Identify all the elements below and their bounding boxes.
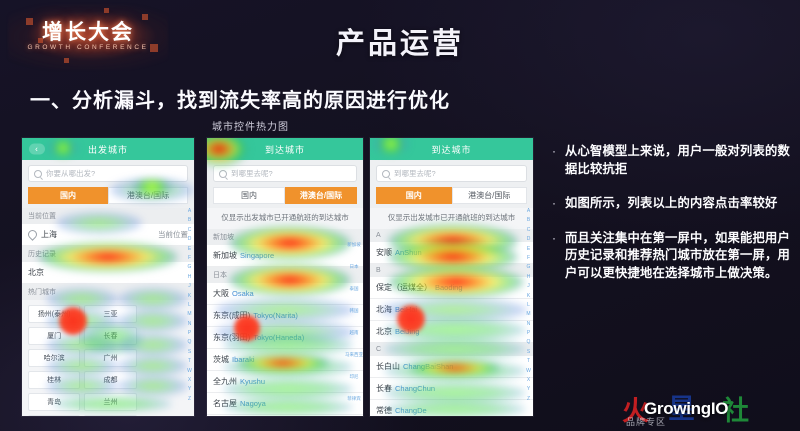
list-item: · 从心智模型上来说，用户一般对列表的数据比较抗拒	[552, 143, 794, 178]
index-letter[interactable]: M	[526, 311, 530, 317]
index-letter[interactable]: M	[187, 311, 191, 317]
city-name: 茨城	[213, 354, 229, 365]
city-chip[interactable]: 兰州	[84, 393, 136, 411]
list-item[interactable]: 长白山 ChangBaiShan	[370, 356, 533, 378]
city-chip[interactable]: 深圳	[28, 415, 80, 416]
index-letter[interactable]: 韩国	[350, 308, 359, 314]
city-tag: 当前位置	[158, 229, 188, 240]
city-name: 大阪	[213, 288, 229, 299]
city-name-en: Ibaraki	[232, 355, 255, 364]
index-letter[interactable]: G	[527, 264, 531, 270]
phone3-header-title: 到达城市	[431, 143, 471, 156]
phone3-notice: 仅显示出发城市已开通航班的到达城市	[370, 208, 533, 229]
city-name: 北海	[376, 304, 392, 315]
city-name: 安顺	[376, 247, 392, 258]
index-letter[interactable]: Z	[188, 396, 191, 402]
city-name: 北京	[28, 267, 44, 278]
index-letter[interactable]: A	[188, 208, 191, 214]
phone2-notice: 仅显示出发城市已开通航班的到达城市	[207, 208, 363, 229]
city-chip[interactable]: 成都	[84, 371, 136, 389]
index-letter[interactable]: Y	[527, 386, 530, 392]
city-chip[interactable]: 长春	[84, 327, 136, 345]
phone3-search-input[interactable]: 到哪里去呢?	[376, 165, 527, 182]
phone3-section-a: A	[370, 229, 533, 242]
index-letter[interactable]: X	[188, 377, 191, 383]
phone3-alphabet-index[interactable]: A B C D E F G H J K L M N P Q S T W X Y …	[525, 208, 532, 402]
index-letter[interactable]: 菲律宾	[347, 396, 361, 402]
index-letter[interactable]: H	[527, 274, 531, 280]
list-item[interactable]: 北京	[22, 262, 194, 284]
index-letter[interactable]: W	[187, 368, 192, 374]
index-letter[interactable]: 日本	[350, 264, 359, 270]
index-letter[interactable]: J	[188, 283, 191, 289]
phone3-search-placeholder: 到哪里去呢?	[394, 168, 436, 179]
phone3-tab-bar: 国内 港澳台/国际	[376, 187, 527, 204]
phone-screenshot-arrival-domestic: 到达城市 到哪里去呢? 国内 港澳台/国际 仅显示出发城市已开通航班的到达城市 …	[370, 138, 533, 416]
city-chip[interactable]: 哈尔滨	[28, 349, 80, 367]
index-letter[interactable]: S	[188, 349, 191, 355]
bullet-text: 如图所示，列表以上的内容点击率较好	[565, 195, 777, 213]
list-item: · 如图所示，列表以上的内容点击率较好	[552, 195, 794, 213]
phone2-search-input[interactable]: 到哪里去呢?	[213, 165, 357, 182]
index-letter[interactable]: B	[527, 217, 530, 223]
index-letter[interactable]: T	[527, 358, 530, 364]
index-letter[interactable]: F	[527, 255, 530, 261]
search-icon	[34, 170, 42, 178]
city-name-en: BeiJing	[395, 327, 420, 336]
city-name-en: ChangDe	[395, 406, 427, 415]
index-letter[interactable]: 新加坡	[347, 242, 361, 248]
list-item[interactable]: 名古屋 Nagoya	[207, 393, 363, 415]
location-pin-icon	[26, 228, 39, 241]
search-icon	[219, 170, 227, 178]
list-item[interactable]: 新加坡 Singapore	[207, 245, 363, 267]
phone2-tab-international[interactable]: 港澳台/国际	[285, 187, 357, 204]
index-letter[interactable]: Z	[527, 396, 530, 402]
city-name: 保定（运煤全）	[376, 282, 432, 293]
list-item: · 而且关注集中在第一屏中，如果能把用户历史记录和推荐热门城市放在第一屏，用户可…	[552, 230, 794, 283]
logo-pixel	[104, 8, 109, 13]
index-letter[interactable]: J	[527, 283, 530, 289]
index-letter[interactable]: D	[527, 236, 531, 242]
index-letter[interactable]: C	[188, 227, 192, 233]
phone1-tab-international[interactable]: 港澳台/国际	[108, 187, 188, 204]
phone3-section-b: B	[370, 264, 533, 277]
city-name: 新加坡	[213, 250, 237, 261]
city-name: 长春	[376, 383, 392, 394]
index-letter[interactable]: K	[188, 293, 191, 299]
list-item[interactable]: 长春 ChangChun	[370, 378, 533, 400]
phone2-search-placeholder: 到哪里去呢?	[231, 168, 273, 179]
city-name-en: Baoding	[435, 283, 463, 292]
city-chip[interactable]: 桂林	[28, 371, 80, 389]
phone1-search-input[interactable]: 你要从哪出发?	[28, 165, 188, 182]
city-name-en: Singapore	[240, 251, 274, 260]
search-icon	[382, 170, 390, 178]
bullet-marker: ·	[552, 195, 565, 213]
city-name: 长白山	[376, 361, 400, 372]
index-letter[interactable]: F	[188, 255, 191, 261]
index-letter[interactable]: S	[527, 349, 530, 355]
list-item[interactable]: 东京(羽田) Tokyo(Haneda)	[207, 327, 363, 349]
index-letter[interactable]: Q	[188, 339, 192, 345]
phone1-header-title: 出发城市	[88, 143, 128, 156]
phone1-search-placeholder: 你要从哪出发?	[46, 168, 95, 179]
index-letter[interactable]: A	[527, 208, 530, 214]
city-name-en: ChangBaiShan	[403, 362, 453, 371]
phone1-tab-bar: 国内 港澳台/国际	[28, 187, 188, 204]
index-letter[interactable]: G	[188, 264, 192, 270]
phone3-tab-international[interactable]: 港澳台/国际	[452, 187, 528, 204]
product-logo-text: GrowingIO	[644, 399, 728, 419]
list-item[interactable]: 茨城 Ibaraki	[207, 349, 363, 371]
city-name-en: Tokyo(Narita)	[253, 311, 298, 320]
bullet-text: 而且关注集中在第一屏中，如果能把用户历史记录和推荐热门城市放在第一屏，用户可以更…	[565, 230, 794, 283]
phone-screenshot-arrival-international: 到达城市 到哪里去呢? 国内 港澳台/国际 仅显示出发城市已开通航班的到达城市 …	[207, 138, 363, 416]
index-letter[interactable]: 印尼	[350, 374, 359, 380]
city-chip[interactable]: 扬州(泰州)	[28, 305, 80, 323]
index-letter[interactable]: L	[188, 302, 191, 308]
city-chip[interactable]: 青岛	[28, 393, 80, 411]
list-item[interactable]: 保定（运煤全） Baoding	[370, 277, 533, 299]
city-name: 全九州	[213, 376, 237, 387]
index-letter[interactable]: P	[527, 330, 530, 336]
index-letter[interactable]: W	[526, 368, 531, 374]
index-letter[interactable]: P	[188, 330, 191, 336]
city-name: 名古屋	[213, 398, 237, 409]
index-letter[interactable]: Q	[527, 339, 531, 345]
back-icon[interactable]: ‹	[29, 144, 45, 155]
list-item[interactable]: 常德 ChangDe	[370, 400, 533, 416]
city-chip[interactable]: 三亚	[84, 305, 136, 323]
bullet-list: · 从心智模型上来说，用户一般对列表的数据比较抗拒 · 如图所示，列表以上的内容…	[552, 143, 794, 299]
watermark: 火 星 社 品牌专区 GrowingIO	[618, 389, 794, 429]
phone2-section-japan: 日本	[207, 267, 363, 283]
list-item[interactable]: 全九州 Kyushu	[207, 371, 363, 393]
list-item[interactable]: 札幌 Sapporo	[207, 415, 363, 416]
index-letter[interactable]: E	[527, 246, 530, 252]
list-item[interactable]: 北海 BeiHai	[370, 299, 533, 321]
list-item[interactable]: 东京(成田) Tokyo(Narita)	[207, 305, 363, 327]
phone1-header-bar: ‹ 出发城市	[22, 138, 194, 160]
phone1-section-current: 当前位置	[22, 208, 194, 224]
phone1-tab-domestic[interactable]: 国内	[28, 187, 108, 204]
phone2-header-bar: 到达城市	[207, 138, 363, 160]
city-chip[interactable]: 重庆	[84, 415, 136, 416]
city-chip[interactable]: 厦门	[28, 327, 80, 345]
city-name-en: Osaka	[232, 289, 254, 298]
slide-canvas: 增长大会 GROWTH CONFERENCE 产品运营 一、分析漏斗，找到流失率…	[0, 0, 800, 431]
index-letter[interactable]: 越南	[350, 330, 359, 336]
section-subtitle: 一、分析漏斗，找到流失率高的原因进行优化	[30, 84, 450, 113]
figure-caption: 城市控件热力图	[212, 118, 289, 133]
city-name: 东京(羽田)	[213, 332, 250, 343]
phone1-alphabet-index[interactable]: A B C D E F G H J K L M N P Q S T W X Y …	[186, 208, 193, 402]
index-letter[interactable]: E	[188, 246, 191, 252]
list-item[interactable]: 上海 当前位置	[22, 224, 194, 246]
city-chip[interactable]: 广州	[84, 349, 136, 367]
phone2-section-singapore: 新加坡	[207, 229, 363, 245]
index-letter[interactable]: T	[188, 358, 191, 364]
phone2-tab-domestic[interactable]: 国内	[213, 187, 285, 204]
city-name-en: Kyushu	[240, 377, 265, 386]
city-name: 上海	[41, 229, 57, 240]
index-letter[interactable]: Y	[188, 386, 191, 392]
index-letter[interactable]: L	[527, 302, 530, 308]
city-name-en: AnShun	[395, 248, 422, 257]
list-item[interactable]: 大阪 Osaka	[207, 283, 363, 305]
phone1-hot-city-grid: 扬州(泰州) 三亚 厦门 长春 哈尔滨 广州 桂林 成都 青岛 兰州 深圳 重庆…	[22, 300, 194, 416]
city-name: 北京	[376, 326, 392, 337]
bullet-text: 从心智模型上来说，用户一般对列表的数据比较抗拒	[565, 143, 794, 178]
index-letter[interactable]: H	[188, 274, 192, 280]
list-item[interactable]: 安顺 AnShun	[370, 242, 533, 264]
city-name-en: Nagoya	[240, 399, 266, 408]
phone2-header-title: 到达城市	[265, 143, 305, 156]
index-letter[interactable]: C	[527, 227, 531, 233]
city-name-en: BeiHai	[395, 305, 417, 314]
index-letter[interactable]: N	[527, 321, 531, 327]
index-letter[interactable]: D	[188, 236, 192, 242]
phone-screenshot-departure-city: ‹ 出发城市 你要从哪出发? 国内 港澳台/国际 当前位置 上海 当前位置 历史…	[22, 138, 194, 416]
phone1-section-hot: 热门城市	[22, 284, 194, 300]
city-name-en: ChangChun	[395, 384, 435, 393]
index-letter[interactable]: N	[188, 321, 192, 327]
city-name: 常德	[376, 405, 392, 416]
page-title: 产品运营	[0, 20, 800, 62]
index-letter[interactable]: B	[188, 217, 191, 223]
phone1-section-history: 历史记录	[22, 246, 194, 262]
index-letter[interactable]: 泰国	[350, 286, 359, 292]
city-name: 东京(成田)	[213, 310, 250, 321]
bullet-marker: ·	[552, 143, 565, 178]
list-item[interactable]: 北京 BeiJing	[370, 321, 533, 343]
city-name-en: Tokyo(Haneda)	[253, 333, 304, 342]
index-letter[interactable]: K	[527, 293, 530, 299]
phone3-section-c: C	[370, 343, 533, 356]
bullet-marker: ·	[552, 230, 565, 283]
index-letter[interactable]: 马来西亚	[345, 352, 363, 358]
index-letter[interactable]: X	[527, 377, 530, 383]
phone3-header-bar: 到达城市	[370, 138, 533, 160]
phone2-tab-bar: 国内 港澳台/国际	[213, 187, 357, 204]
phone2-region-index[interactable]: 新加坡 日本 泰国 韩国 越南 马来西亚 印尼 菲律宾	[345, 242, 363, 402]
phone3-tab-domestic[interactable]: 国内	[376, 187, 452, 204]
